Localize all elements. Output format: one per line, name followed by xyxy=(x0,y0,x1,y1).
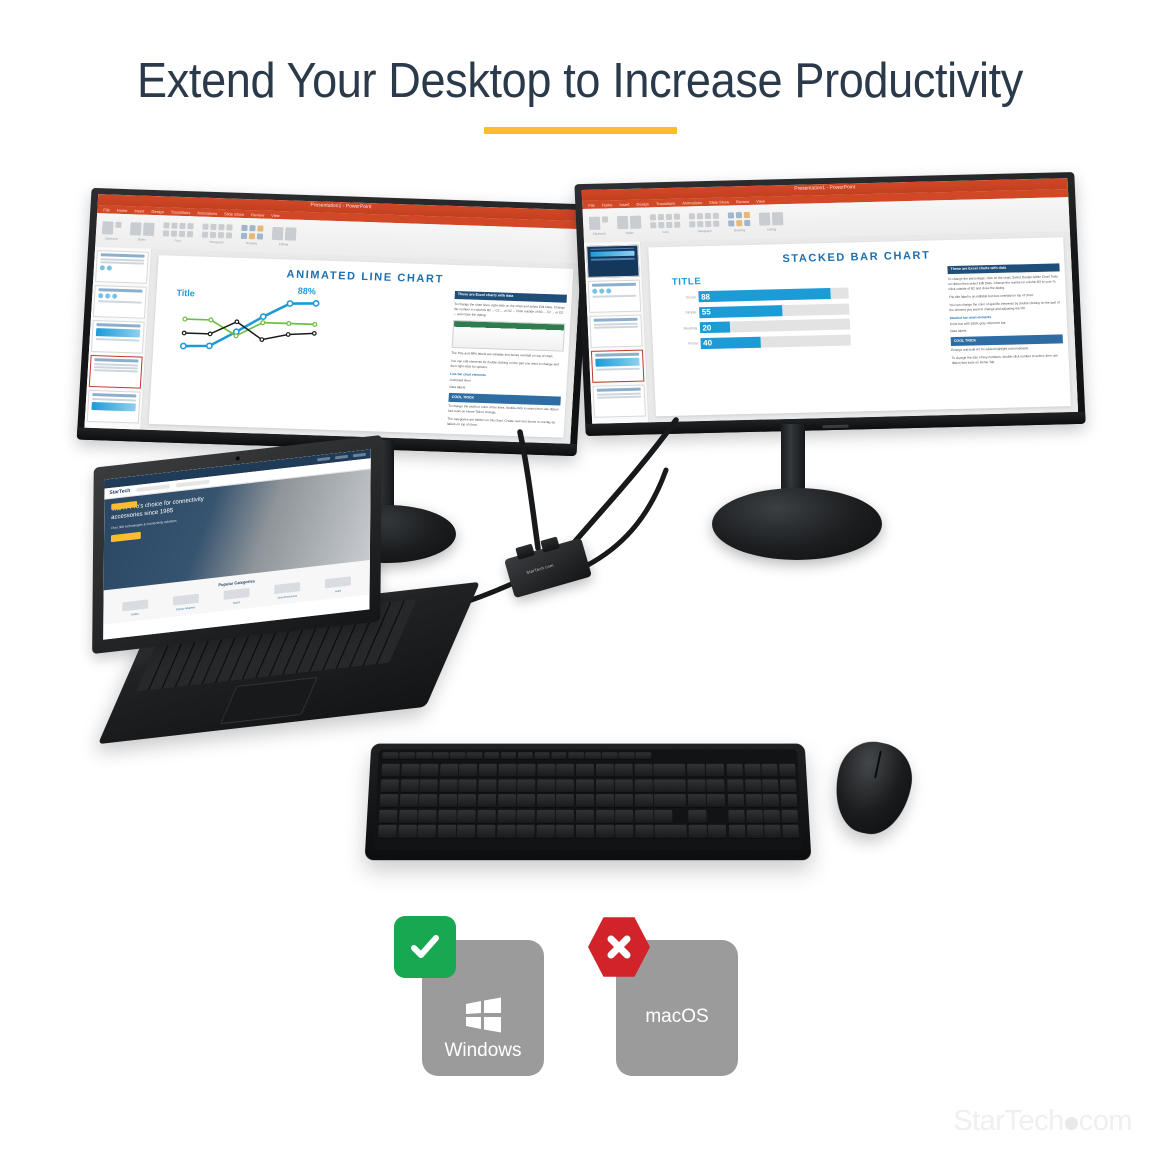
slide-thumbnail-panel[interactable] xyxy=(584,242,649,424)
os-badge-windows: Windows xyxy=(422,940,544,1076)
category-label: Cables xyxy=(131,613,139,617)
category-tile[interactable]: Display Adapters xyxy=(173,594,199,612)
ppt-tab[interactable]: Design xyxy=(151,208,164,213)
ppt-workspace: ANIMATED LINE CHART Title 88% xyxy=(84,247,580,444)
ppt-title-text: Presentation1 - PowerPoint xyxy=(310,202,371,210)
slide-thumbnail[interactable] xyxy=(589,315,642,348)
right-monitor-stand-base xyxy=(712,488,882,560)
webcam-icon xyxy=(236,456,240,460)
ppt-tab[interactable]: Animations xyxy=(682,200,702,205)
wireless-mouse[interactable] xyxy=(827,735,919,840)
right-monitor-screen[interactable]: Presentation1 - PowerPoint File Home Ins… xyxy=(582,178,1078,424)
ppt-tab[interactable]: Insert xyxy=(619,201,629,206)
ribbon-group-label: Drawing xyxy=(728,228,750,233)
ppt-tab[interactable]: Slide Show xyxy=(224,211,244,217)
ribbon-group-font[interactable]: Font xyxy=(650,214,681,235)
ppt-tab[interactable]: Review xyxy=(251,212,264,217)
slide-editing-canvas[interactable]: STACKED BAR CHART TITLE Visual 88 xyxy=(641,231,1078,422)
bar-chart-row: Visual 88 xyxy=(672,288,848,303)
bar-chart-row: Reading 20 xyxy=(674,319,850,334)
ppt-tab[interactable]: Animations xyxy=(197,210,217,216)
left-monitor: Presentation1 - PowerPoint File Home Ins… xyxy=(77,188,592,456)
ribbon-group-label: Editing xyxy=(271,241,295,246)
bar-value-label: 55 xyxy=(702,307,711,316)
monitor-brand-logo xyxy=(822,425,848,429)
bar-track: 40 xyxy=(700,334,850,349)
utility-link[interactable] xyxy=(317,457,330,461)
adapter-port xyxy=(515,544,535,560)
utility-link[interactable] xyxy=(353,453,366,457)
category-label: Docks xyxy=(233,601,240,605)
category-tile[interactable]: Docks xyxy=(224,588,250,606)
slide-thumbnail[interactable] xyxy=(87,390,141,424)
bar-category-label: Reading xyxy=(674,326,700,331)
info-paragraph: To change the size of key numbers, doubl… xyxy=(951,354,1063,367)
ribbon-group-font[interactable]: Font xyxy=(162,222,193,243)
nav-search-field[interactable] xyxy=(136,484,170,492)
laptop-trackpad[interactable] xyxy=(220,677,318,724)
line-chart-title-label: Title xyxy=(176,288,195,299)
slide-thumbnail[interactable] xyxy=(91,320,145,354)
slide-info-panel: These are Excel charts with data To chan… xyxy=(947,263,1064,369)
category-icon xyxy=(173,594,199,606)
os-compatibility-row: Windows macOS xyxy=(0,940,1160,1076)
bar-track: 55 xyxy=(699,303,849,318)
ribbon-group-label: Font xyxy=(651,230,681,235)
ribbon-group-label: Font xyxy=(162,238,192,243)
numeric-keypad[interactable] xyxy=(727,764,799,839)
bar-fill xyxy=(698,288,830,302)
laptop-screen[interactable]: StarTech The IT Pro's choice for connect… xyxy=(103,449,371,640)
ppt-tab[interactable]: Home xyxy=(117,207,128,212)
ribbon-group-editing[interactable]: Editing xyxy=(271,226,296,246)
ribbon-group-label: Clipboard xyxy=(102,236,121,241)
slide-thumbnail[interactable] xyxy=(95,250,149,284)
ribbon-group-label: Paragraph xyxy=(201,240,231,245)
ppt-tab[interactable]: Home xyxy=(602,202,613,207)
adapter-port xyxy=(540,536,560,552)
info-header: These are Excel charts with data xyxy=(455,291,567,303)
watermark-text-before: StarTech xyxy=(953,1105,1063,1138)
bar-value-label: 40 xyxy=(703,338,712,347)
ppt-tab[interactable]: File xyxy=(103,207,110,212)
info-paragraph: The categories are hidden on this chart.… xyxy=(447,417,560,431)
info-paragraph: The Title and 88% labels are editable te… xyxy=(451,351,563,360)
ppt-tab[interactable]: Transitions xyxy=(656,200,676,205)
info-trick-header: COOL TRICK xyxy=(448,393,560,405)
slide-thumbnail-selected[interactable] xyxy=(591,350,644,383)
ppt-title-text: Presentation1 - PowerPoint xyxy=(794,184,855,191)
function-key-row[interactable] xyxy=(382,752,651,760)
os-badge-macos: macOS xyxy=(616,940,738,1076)
ribbon-group-paragraph[interactable]: Paragraph xyxy=(201,224,232,245)
slide[interactable]: STACKED BAR CHART TITLE Visual 88 xyxy=(648,237,1071,416)
slide-thumbnail[interactable] xyxy=(586,245,639,278)
info-header: These are Excel charts with data xyxy=(947,263,1059,274)
category-tile[interactable]: Cables xyxy=(122,599,148,617)
bar-chart-row: Visual 40 xyxy=(674,334,850,349)
desktop-keyboard[interactable] xyxy=(365,744,812,861)
category-icon xyxy=(325,576,351,588)
bar-value-label: 88 xyxy=(701,292,710,301)
bar-track: 20 xyxy=(700,319,850,334)
bar-fill xyxy=(699,305,782,318)
ribbon-group-label: Paragraph xyxy=(690,229,720,234)
utility-link[interactable] xyxy=(335,455,348,459)
os-label-macos: macOS xyxy=(645,1006,708,1028)
slide-info-panel: These are Excel charts with data To chan… xyxy=(447,291,567,434)
category-icon xyxy=(274,582,300,594)
laptop: StarTech The IT Pro's choice for connect… xyxy=(92,452,444,722)
laptop-lid: StarTech The IT Pro's choice for connect… xyxy=(92,435,382,654)
hero-cta-button[interactable] xyxy=(111,532,141,542)
slide[interactable]: ANIMATED LINE CHART Title 88% xyxy=(149,255,574,438)
info-paragraph: To change the width or color of the line… xyxy=(448,404,561,418)
ppt-tab[interactable]: Insert xyxy=(134,208,144,213)
category-label: Drive Enclosures xyxy=(278,595,298,600)
bar-track: 88 xyxy=(698,288,848,303)
main-key-block[interactable] xyxy=(378,764,673,839)
slide-thumbnail[interactable] xyxy=(93,285,147,319)
line-chart[interactable]: Title 88% xyxy=(169,282,329,365)
bar-chart-title-label: TITLE xyxy=(672,273,848,288)
bar-category-label: Simple xyxy=(673,310,699,315)
bar-value-label: 20 xyxy=(702,323,711,332)
ribbon-group-label: Slides xyxy=(130,237,154,242)
watermark-dot-icon xyxy=(1065,1117,1078,1130)
slide-thumbnail[interactable] xyxy=(588,280,641,313)
info-paragraph: To change the chart lines, right-click o… xyxy=(453,302,566,321)
bar-category-label: Visual xyxy=(675,341,701,346)
category-label: Hubs xyxy=(335,589,341,593)
slide-thumbnail-selected[interactable] xyxy=(89,355,143,389)
ppt-tab[interactable]: Review xyxy=(736,198,749,203)
info-paragraph: You can edit elements by double clicking… xyxy=(450,359,563,373)
os-label-windows: Windows xyxy=(444,1040,521,1062)
check-icon xyxy=(394,916,456,978)
category-tile[interactable]: Hubs xyxy=(325,576,351,594)
ppt-tab[interactable]: Transitions xyxy=(171,209,191,215)
adapter-brand-label: StarTech.com xyxy=(526,562,554,575)
ppt-tab[interactable]: View xyxy=(271,212,280,217)
slide-editing-canvas[interactable]: ANIMATED LINE CHART Title 88% xyxy=(141,249,581,444)
ribbon-group-slides[interactable]: Slides xyxy=(130,222,155,242)
watermark-text-after: com xyxy=(1079,1105,1132,1138)
bar-category-label: Visual xyxy=(672,295,698,300)
usb-video-adapter: StarTech.com xyxy=(504,538,592,599)
ribbon-group-slides[interactable]: Slides xyxy=(617,215,642,235)
ppt-tab[interactable]: View xyxy=(756,198,765,203)
ribbon-group-clipboard[interactable]: Clipboard xyxy=(589,216,609,235)
ppt-tab[interactable]: File xyxy=(588,202,595,207)
ribbon-group-label: Editing xyxy=(759,227,783,232)
left-monitor-screen[interactable]: Presentation1 - PowerPoint File Home Ins… xyxy=(84,194,584,444)
info-paragraph: You can change the color of specific ele… xyxy=(949,300,1061,313)
category-label: Display Adapters xyxy=(176,606,195,611)
info-element-item: Data labels xyxy=(950,327,1062,335)
ribbon-group-paragraph[interactable]: Paragraph xyxy=(689,213,720,234)
ribbon-group-label: Clipboard xyxy=(590,231,609,235)
ppt-workspace: STACKED BAR CHART TITLE Visual 88 xyxy=(584,231,1078,424)
info-paragraph: Enlarge and bold #'s for added highlight… xyxy=(951,346,1063,354)
info-paragraph: To change the percentage, click on the c… xyxy=(948,274,1061,292)
category-icon xyxy=(122,599,148,611)
startech-website[interactable]: StarTech The IT Pro's choice for connect… xyxy=(103,449,371,640)
ribbon-group-label: Drawing xyxy=(240,241,262,246)
info-trick-header: COOL TRICK xyxy=(951,335,1063,346)
navigation-key-cluster[interactable] xyxy=(667,764,726,839)
info-element-item: Data labels xyxy=(449,385,561,394)
slide-thumbnail[interactable] xyxy=(593,385,646,418)
ppt-tab[interactable]: Slide Show xyxy=(709,199,729,204)
ribbon-group-drawing[interactable]: Drawing xyxy=(728,212,751,233)
windows-flag-icon xyxy=(463,996,503,1034)
ribbon-group-drawing[interactable]: Drawing xyxy=(240,225,263,246)
slide-title: STACKED BAR CHART xyxy=(648,237,1064,268)
line-chart-value-label: 88% xyxy=(297,286,316,297)
keyboard-plate xyxy=(373,749,802,850)
startech-watermark: StarTech com xyxy=(953,1105,1132,1138)
info-screenshot-image xyxy=(452,320,566,352)
ribbon-group-editing[interactable]: Editing xyxy=(759,212,784,232)
ribbon-group-clipboard[interactable]: Clipboard xyxy=(102,221,122,241)
nav-menu[interactable] xyxy=(176,480,210,488)
slide-thumbnail-panel[interactable] xyxy=(84,247,152,430)
site-logo[interactable]: StarTech xyxy=(109,488,130,496)
right-monitor: Presentation1 - PowerPoint File Home Ins… xyxy=(574,172,1085,436)
bar-chart-row: Simple 55 xyxy=(673,303,849,318)
ppt-tab[interactable]: Design xyxy=(636,201,649,206)
ribbon-group-label: Slides xyxy=(618,230,642,235)
category-icon xyxy=(224,588,250,600)
info-paragraph: The title label is an editable text box … xyxy=(949,292,1061,300)
bar-chart[interactable]: TITLE Visual 88 Simple xyxy=(672,273,851,354)
category-tile[interactable]: Drive Enclosures xyxy=(274,582,300,600)
